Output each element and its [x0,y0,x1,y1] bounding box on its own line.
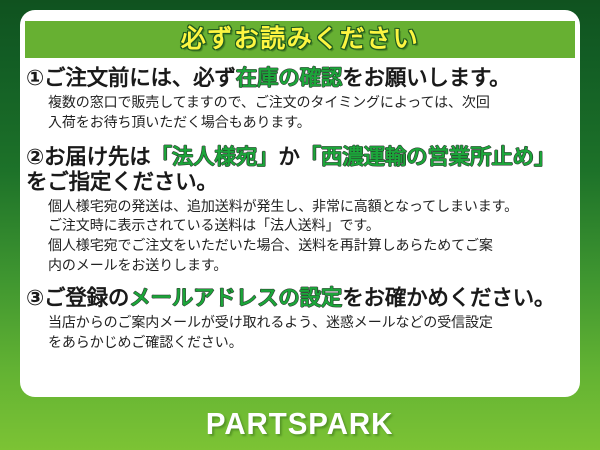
item-1-heading-part-0: ご注文前には、必ず [44,66,236,90]
item-3-body-line-1: をあらかじめご確認ください。 [48,333,574,353]
item-2-heading-part-4: をご指定ください。 [26,170,218,194]
notice-item-3: ③ご登録のメールアドレスの設定をお確かめください。 当店からのご案内メールが受け… [26,286,574,353]
item-3-heading-highlight: メールアドレスの設定 [129,286,342,310]
notice-item-2-heading: ②お届け先は「法人様宛」か「西濃運輸の営業所止め」をご指定ください。 [26,145,574,195]
item-2-body-line-1: ご注文時に表示されている送料は「法人送料」です。 [48,216,574,236]
item-1-body-line-1: 入荷をお待ち頂いただく場合もあります。 [48,113,574,133]
item-number-1: ① [26,66,44,90]
item-1-heading-highlight: 在庫の確認 [236,66,343,90]
notice-item-2: ②お届け先は「法人様宛」か「西濃運輸の営業所止め」をご指定ください。 個人様宅宛… [26,145,574,276]
notice-banner: 必ずお読みください ①ご注文前には、必ず在庫の確認をお願いします。 複数の窓口で… [0,0,600,450]
header-strip: 必ずお読みください [25,21,575,58]
item-2-heading-highlight-2: 「西濃運輸の営業所止め」 [300,145,556,169]
item-2-body-line-0: 個人様宅宛の発送は、追加送料が発生し、非常に高額となってしまいます。 [48,197,574,217]
item-2-heading-part-2: か [278,145,299,169]
page-title: 必ずお読みください [181,27,420,52]
notice-items-list: ①ご注文前には、必ず在庫の確認をお願いします。 複数の窓口で販売してますので、ご… [20,66,580,353]
item-2-heading-highlight-1: 「法人様宛」 [151,145,279,169]
brand-logo: PARTSPARK [206,408,393,439]
footer: PARTSPARK [0,397,600,450]
notice-card: 必ずお読みください ①ご注文前には、必ず在庫の確認をお願いします。 複数の窓口で… [20,10,580,397]
notice-item-1-body: 複数の窓口で販売してますので、ご注文のタイミングによっては、次回 入荷をお待ち頂… [26,93,574,133]
item-number-2: ② [26,145,44,169]
item-3-heading-part-0: ご登録の [44,286,129,310]
notice-item-2-body: 個人様宅宛の発送は、追加送料が発生し、非常に高額となってしまいます。 ご注文時に… [26,197,574,277]
item-2-body-line-3: 内のメールをお送りします。 [48,256,574,276]
item-1-heading-part-2: をお願いします。 [342,66,510,90]
item-number-3: ③ [26,286,44,310]
item-3-body-line-0: 当店からのご案内メールが受け取れるよう、迷惑メールなどの受信設定 [48,313,574,333]
notice-item-1: ①ご注文前には、必ず在庫の確認をお願いします。 複数の窓口で販売してますので、ご… [26,66,574,133]
item-1-body-line-0: 複数の窓口で販売してますので、ご注文のタイミングによっては、次回 [48,93,574,113]
item-2-body-line-2: 個人様宅宛でご注文をいただいた場合、送料を再計算しあらためてご案 [48,236,574,256]
item-2-heading-part-0: お届け先は [44,145,151,169]
notice-item-3-body: 当店からのご案内メールが受け取れるよう、迷惑メールなどの受信設定 をあらかじめご… [26,313,574,353]
notice-item-1-heading: ①ご注文前には、必ず在庫の確認をお願いします。 [26,66,574,91]
notice-item-3-heading: ③ご登録のメールアドレスの設定をお確かめください。 [26,286,574,311]
item-3-heading-part-2: をお確かめください。 [342,286,555,310]
